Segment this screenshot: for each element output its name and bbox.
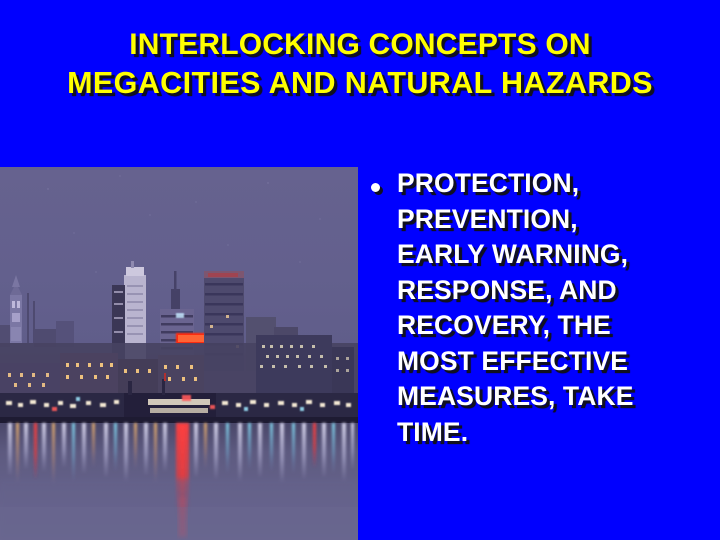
skyline-photo-graphic	[0, 167, 358, 540]
night-city-skyline-waterfront-photo	[0, 167, 358, 540]
slide-body: PROTECTION, PREVENTION, EARLY WARNING, R…	[371, 166, 711, 450]
title-line-2: MEGACITIES AND NATURAL HAZARDS	[0, 64, 720, 102]
bullet-line-6: MOST EFFECTIVE	[397, 344, 711, 380]
list-item: PROTECTION, PREVENTION, EARLY WARNING, R…	[371, 166, 711, 450]
bullet-line-8: TIME.	[397, 415, 711, 451]
bullet-line-3: EARLY WARNING,	[397, 237, 711, 273]
bullet-line-1: PROTECTION,	[397, 166, 711, 202]
slide-title: INTERLOCKING CONCEPTS ON MEGACITIES AND …	[0, 26, 720, 102]
bullet-line-5: RECOVERY, THE	[397, 308, 711, 344]
bullet-icon	[371, 166, 397, 197]
bullet-text: PROTECTION, PREVENTION, EARLY WARNING, R…	[397, 166, 711, 450]
presentation-slide: INTERLOCKING CONCEPTS ON MEGACITIES AND …	[0, 0, 720, 540]
title-line-1: INTERLOCKING CONCEPTS ON	[0, 26, 720, 64]
bullet-line-4: RESPONSE, AND	[397, 273, 711, 309]
bullet-line-2: PREVENTION,	[397, 202, 711, 238]
bullet-line-7: MEASURES, TAKE	[397, 379, 711, 415]
